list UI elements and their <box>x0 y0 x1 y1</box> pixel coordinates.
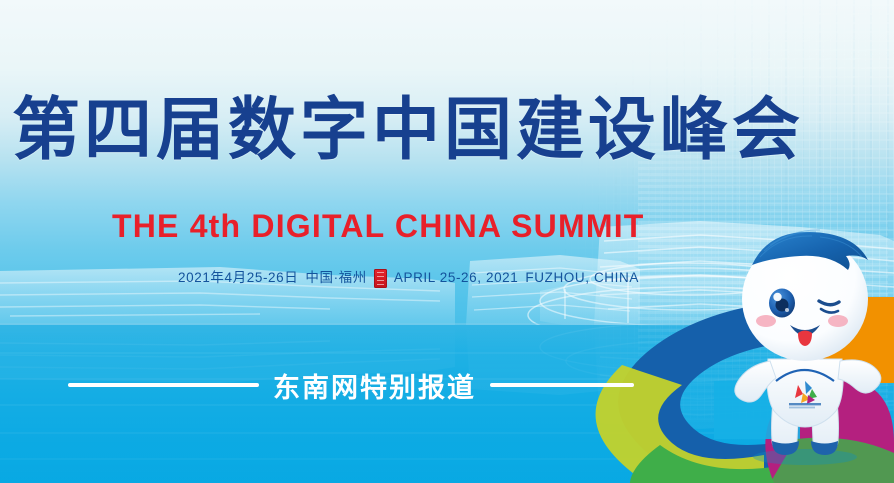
dateline-cn-date: 2021年4月25-26日 <box>178 271 298 285</box>
dateline-en-place: FUZHOU, CHINA <box>525 271 639 285</box>
strap-label: 东南网特别报道 <box>273 366 476 405</box>
dateline-en-date: APRIL 25-26, 2021 <box>394 271 519 285</box>
page-title-english: THE 4th DIGITAL CHINA SUMMIT <box>112 210 645 242</box>
mascot-figure <box>720 221 890 471</box>
page-title-chinese: 第四届数字中国建设峰会 <box>12 96 822 164</box>
summit-banner: 第四届数字中国建设峰会 THE 4th DIGITAL CHINA SUMMIT… <box>0 0 894 483</box>
strap-rule-left <box>68 383 259 387</box>
special-report-strap: 东南网特别报道 <box>68 368 634 402</box>
red-seal-icon <box>374 269 387 288</box>
dateline: 2021年4月25-26日 中国·福州 APRIL 25-26, 2021 FU… <box>178 268 639 287</box>
mascot-cheek-left <box>756 315 776 327</box>
dateline-cn-place: 中国·福州 <box>305 271 367 285</box>
mascot-cheek-right <box>828 315 848 327</box>
strap-rule-right <box>490 383 634 387</box>
